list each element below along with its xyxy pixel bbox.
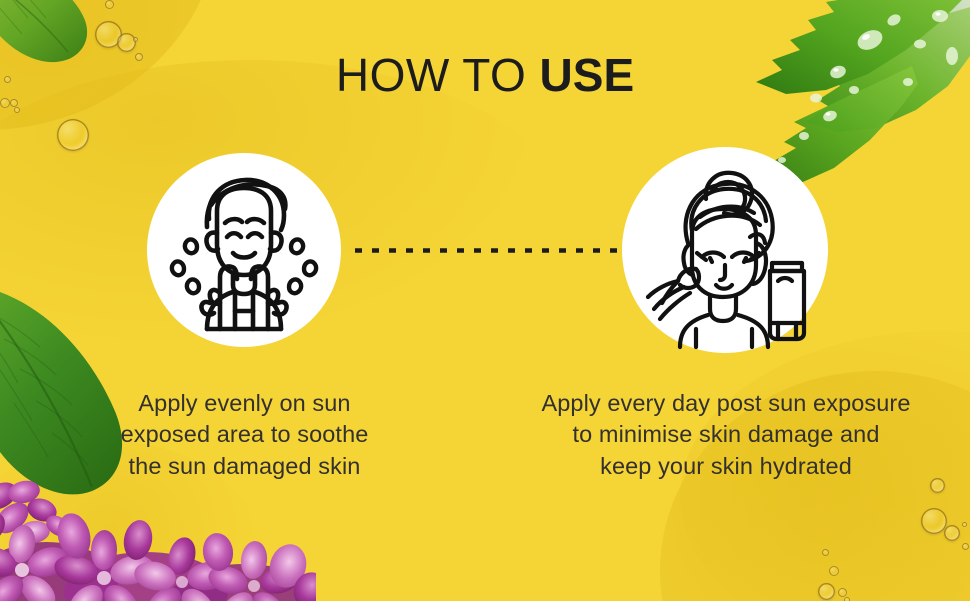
title-bold-text: USE — [540, 49, 635, 101]
oil-bubble — [962, 543, 969, 550]
caption-line: Apply every day post sun exposure — [487, 388, 965, 419]
oil-bubble — [962, 522, 967, 527]
oil-bubble — [0, 98, 10, 108]
caption-line: the sun damaged skin — [62, 451, 427, 482]
oil-bubble — [838, 588, 847, 597]
step-2-caption: Apply every day post sun exposure to min… — [487, 388, 965, 482]
oil-bubble — [822, 549, 829, 556]
caption-line: to minimise skin damage and — [487, 419, 965, 450]
oil-bubble — [829, 566, 839, 576]
oil-bubble — [818, 583, 835, 600]
caption-line: keep your skin hydrated — [487, 451, 965, 482]
page-title: HOW TO USE — [0, 52, 970, 98]
oil-bubble — [105, 0, 114, 9]
smiling-face-with-headband-and-water-droplets-icon — [147, 153, 341, 347]
oil-bubble — [944, 525, 960, 541]
oil-bubble — [133, 37, 138, 42]
oil-bubble — [57, 119, 89, 151]
dashed-connector — [355, 248, 620, 253]
caption-line: Apply evenly on sun — [62, 388, 427, 419]
step-1-caption: Apply evenly on sun exposed area to soot… — [62, 388, 427, 482]
oil-bubble — [844, 597, 850, 601]
how-to-use-banner: HOW TO USE — [0, 0, 970, 601]
oil-bubble — [117, 33, 136, 52]
purple-lilac-flowers — [0, 474, 316, 601]
caption-line: exposed area to soothe — [62, 419, 427, 450]
woman-with-towel-wrap-applying-cream-icon — [622, 147, 828, 353]
oil-bubble — [10, 99, 18, 107]
title-light-text: HOW TO — [336, 49, 526, 101]
oil-bubble — [921, 508, 947, 534]
oil-bubble — [14, 107, 20, 113]
